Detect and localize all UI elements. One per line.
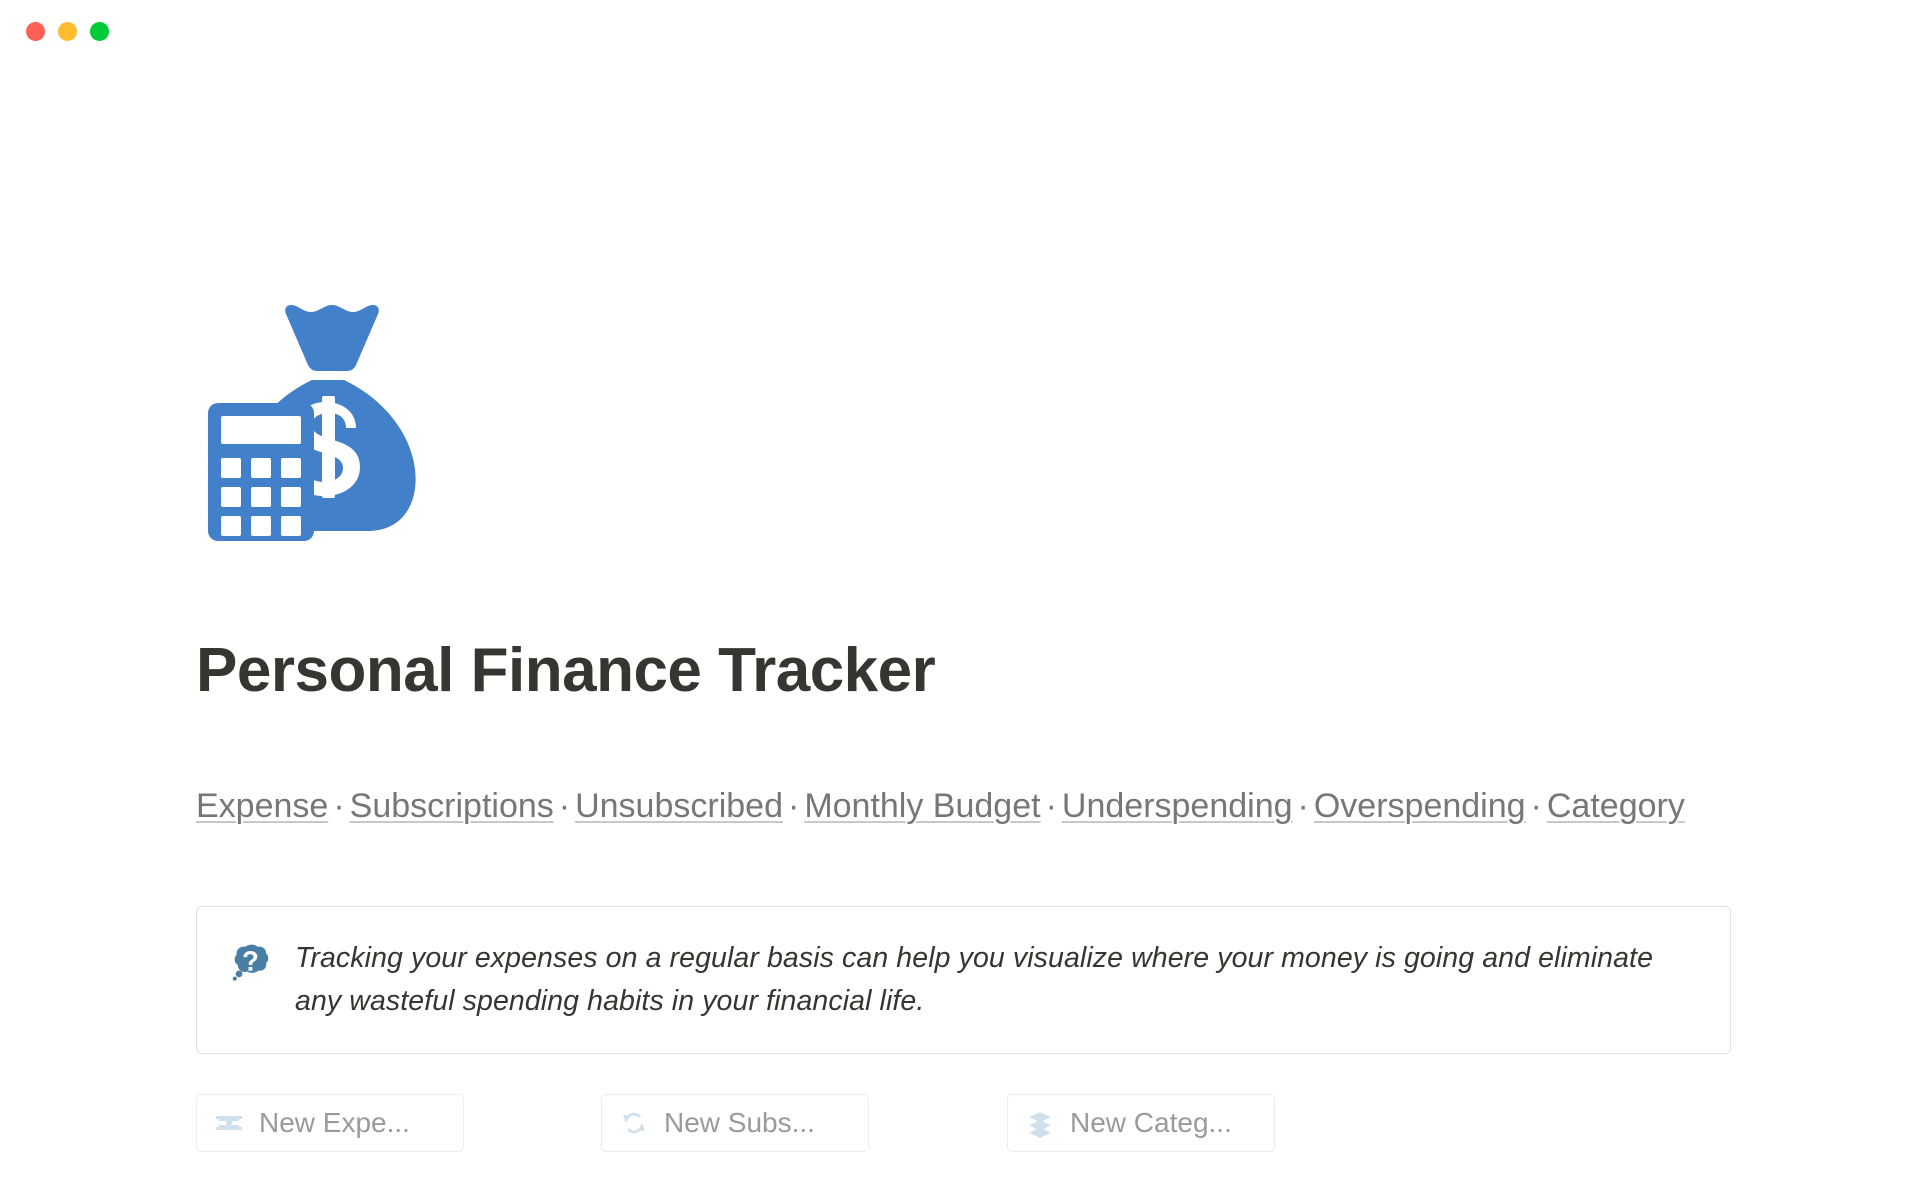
new-category-label: New Categ...: [1070, 1108, 1232, 1138]
close-window-button[interactable]: [26, 22, 45, 41]
nav-link-category[interactable]: Category: [1547, 787, 1685, 825]
nav-link-monthly-budget[interactable]: Monthly Budget: [804, 787, 1040, 825]
minimize-window-button[interactable]: [58, 22, 77, 41]
new-category-button[interactable]: New Categ...: [1007, 1094, 1275, 1152]
sync-arrows-icon: [619, 1108, 649, 1138]
nav-link-underspending[interactable]: Underspending: [1062, 787, 1293, 825]
page-title: Personal Finance Tracker: [196, 634, 935, 708]
money-bag-calculator-icon: [196, 288, 460, 552]
nav-separator: ·: [554, 787, 575, 825]
nav-separator: ·: [1526, 787, 1547, 825]
nav-link-overspending[interactable]: Overspending: [1314, 787, 1526, 825]
thought-bubble-question-icon: [231, 943, 269, 981]
nav-link-unsubscribed[interactable]: Unsubscribed: [575, 787, 783, 825]
nav-link-expense[interactable]: Expense: [196, 787, 328, 825]
page-nav-links: Expense·Subscriptions·Unsubscribed·Month…: [196, 779, 1676, 834]
window-titlebar: [0, 0, 1920, 64]
maximize-window-button[interactable]: [90, 22, 109, 41]
nav-separator: ·: [1041, 787, 1062, 825]
app-page: Personal Finance Tracker Expense·Subscri…: [0, 0, 1920, 1200]
new-subscription-button[interactable]: New Subs...: [601, 1094, 869, 1152]
nav-separator: ·: [1293, 787, 1314, 825]
callout-text: Tracking your expenses on a regular basi…: [295, 937, 1698, 1023]
new-expense-label: New Expe...: [259, 1108, 410, 1138]
window-controls: [26, 22, 109, 41]
new-item-button-row: New Expe... New Subs...: [196, 1094, 1275, 1152]
nav-link-subscriptions[interactable]: Subscriptions: [350, 787, 554, 825]
info-callout: Tracking your expenses on a regular basi…: [196, 906, 1731, 1054]
layers-stack-icon: [1025, 1108, 1055, 1138]
new-expense-button[interactable]: New Expe...: [196, 1094, 464, 1152]
nav-separator: ·: [328, 787, 349, 825]
nav-separator: ·: [783, 787, 804, 825]
banknote-icon: [214, 1108, 244, 1138]
new-subscription-label: New Subs...: [664, 1108, 815, 1138]
